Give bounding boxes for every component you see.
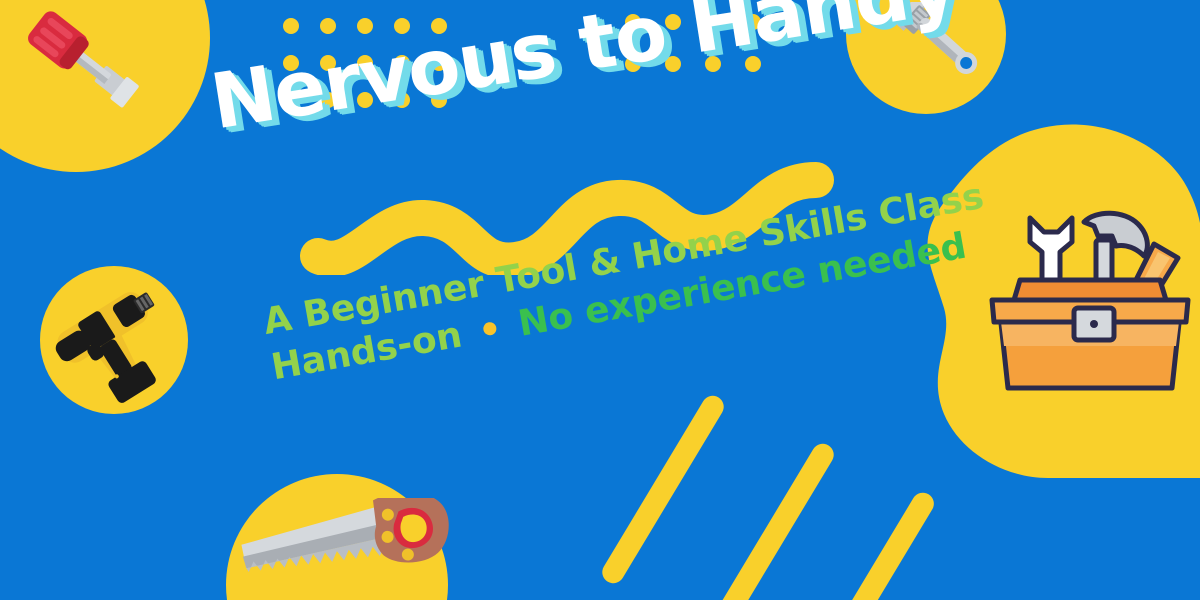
- diagonal-stripe: [816, 489, 938, 600]
- event-banner: Nervous to Handy A Beginner Tool & Home …: [0, 0, 1200, 600]
- diagonal-stripe: [708, 440, 838, 600]
- dot: [320, 18, 336, 34]
- toolbox-icon: [986, 196, 1194, 396]
- screwdriver-icon: [8, 6, 158, 116]
- bullet-dot-icon: [482, 321, 497, 336]
- diagonal-stripe: [598, 392, 728, 588]
- dot: [283, 18, 299, 34]
- saw-icon: [236, 498, 456, 588]
- drill-icon: [52, 272, 176, 404]
